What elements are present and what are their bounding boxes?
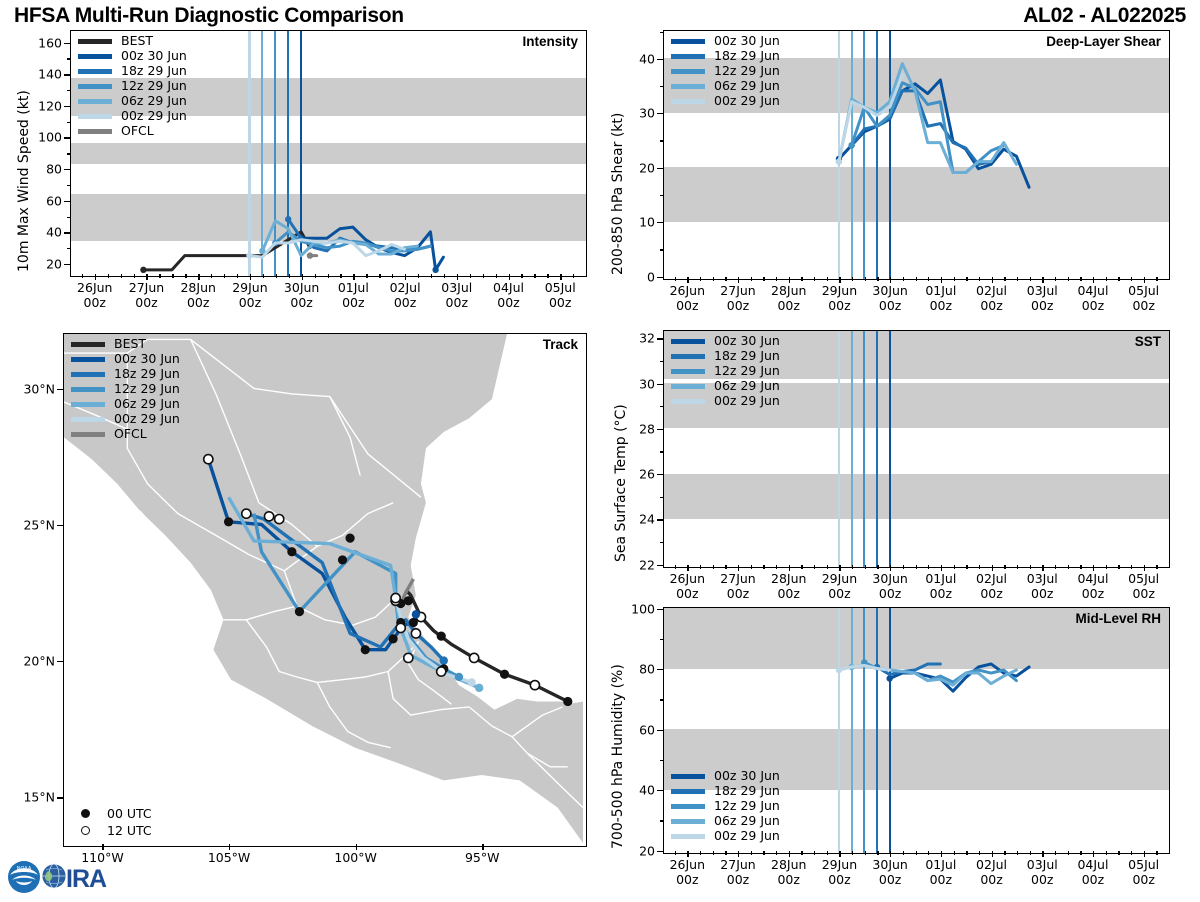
legend-swatch-18z-29-jun (671, 54, 705, 58)
x-tick-hour: 00z (1132, 872, 1154, 887)
legend-swatch-00z-29-jun (78, 114, 112, 118)
x-tick-minor (713, 851, 714, 855)
x-tick-date: 27Jun (129, 280, 164, 295)
x-tick-hour: 00z (342, 295, 364, 310)
x-tick-minor (1131, 277, 1132, 281)
x-tick-date: 26Jun (77, 280, 112, 295)
x-tick-minor (1004, 851, 1005, 855)
rh-legend: 00z 30 Jun18z 29 Jun12z 29 Jun06z 29 Jun… (671, 769, 780, 844)
track-marker-open (404, 653, 413, 662)
x-tick-minor (328, 274, 329, 278)
x-tick-label: 30Jun00z (872, 572, 907, 602)
y-tick-minor (67, 248, 71, 249)
x-tick-date: 02Jul (976, 283, 1007, 298)
x-tick-label: 28Jun00z (771, 572, 806, 602)
y-tick (657, 429, 663, 430)
x-tick-date: 28Jun (771, 283, 806, 298)
y-tick (64, 232, 70, 233)
legend-label: 12z 29 Jun (714, 65, 780, 78)
x-tick-minor (1030, 277, 1031, 281)
map-x-tick-label: 100°W (334, 851, 376, 866)
panel-intensity[interactable]: Intensity BEST00z 30 Jun18z 29 Jun12z 29… (70, 30, 585, 275)
series-start-dot (285, 216, 291, 222)
y-tick-label: 40 (617, 783, 655, 798)
y-tick (657, 168, 663, 169)
x-tick-label: 02Jul00z (976, 858, 1007, 888)
x-tick-minor (954, 277, 955, 281)
shear-legend-item: 18z 29 Jun (671, 49, 780, 64)
x-tick-minor (979, 851, 980, 855)
x-tick-date: 27Jun (720, 571, 755, 586)
x-tick-hour: 00z (676, 586, 698, 601)
rh-legend-item: 00z 29 Jun (671, 829, 780, 844)
legend-label: 18z 29 Jun (714, 350, 780, 363)
intensity-legend: BEST00z 30 Jun18z 29 Jun12z 29 Jun06z 29… (78, 34, 187, 139)
x-tick-date: 05Jul (1128, 283, 1159, 298)
shear-legend-item: 12z 29 Jun (671, 64, 780, 79)
legend-label: 00z 30 Jun (114, 353, 180, 366)
track-marker-filled (389, 634, 398, 643)
legend-label: 00z 30 Jun (121, 50, 187, 63)
x-tick-minor (134, 274, 135, 278)
legend-swatch-00z-30-jun (671, 774, 705, 778)
legend-swatch-00z-30-jun (71, 357, 105, 361)
legend-label: 06z 29 Jun (121, 95, 187, 108)
marker-dot-filled (81, 809, 90, 818)
x-tick-hour: 00z (394, 295, 416, 310)
series-start-dot (432, 267, 438, 273)
x-tick-label: 05Jul00z (1128, 858, 1159, 888)
intensity-legend-item: 00z 30 Jun (78, 49, 187, 64)
legend-swatch-best (71, 342, 105, 346)
x-tick-minor (751, 565, 752, 569)
x-tick-minor (801, 565, 802, 569)
x-tick-minor (725, 851, 726, 855)
x-tick-date: 03Jul (1027, 283, 1058, 298)
x-tick-minor (276, 274, 277, 278)
legend-swatch-18z-29-jun (671, 354, 705, 358)
x-tick-minor (483, 274, 484, 278)
y-tick-minor (660, 32, 664, 33)
x-tick-date: 03Jul (1027, 857, 1058, 872)
legend-label: 00z 29 Jun (714, 95, 780, 108)
x-tick-minor (392, 274, 393, 278)
x-tick-minor (827, 851, 828, 855)
x-tick-minor (776, 277, 777, 281)
legend-label: 06z 29 Jun (714, 815, 780, 828)
y-tick (657, 519, 663, 520)
x-tick-label: 30Jun00z (284, 281, 319, 311)
x-tick-minor (1118, 277, 1119, 281)
y-tick (657, 474, 663, 475)
x-tick-minor (1004, 565, 1005, 569)
y-tick (64, 201, 70, 202)
x-tick-minor (877, 565, 878, 569)
y-tick-label: 80 (617, 662, 655, 677)
x-tick-hour: 00z (828, 298, 850, 313)
x-tick-date: 02Jul (976, 571, 1007, 586)
x-tick-label: 26Jun00z (670, 284, 705, 314)
x-tick-minor (852, 277, 853, 281)
x-tick-date: 30Jun (284, 280, 319, 295)
x-tick-minor (521, 274, 522, 278)
track-marker-filled (295, 607, 304, 616)
series-start-dot (836, 667, 842, 673)
map-y-tick-label: 25°N (1, 518, 55, 533)
x-tick-minor (675, 277, 676, 281)
legend-label: 00z 29 Jun (121, 110, 187, 123)
x-tick-minor (1030, 851, 1031, 855)
x-tick-hour: 00z (290, 295, 312, 310)
x-tick-minor (700, 277, 701, 281)
sst-legend-item: 18z 29 Jun (671, 349, 780, 364)
x-tick-minor (814, 851, 815, 855)
x-tick-minor (444, 274, 445, 278)
x-tick-date: 29Jun (232, 280, 267, 295)
y-tick-label: 80 (24, 162, 62, 177)
x-tick-hour: 00z (980, 586, 1002, 601)
x-tick-minor (211, 274, 212, 278)
legend-label: 18z 29 Jun (714, 785, 780, 798)
legend-label: 00z 30 Jun (714, 335, 780, 348)
y-tick-minor (660, 699, 664, 700)
y-tick (657, 338, 663, 339)
x-tick-label: 01Jul00z (925, 284, 956, 314)
y-tick (657, 59, 663, 60)
storm-id-label: AL02 - AL022025 (1023, 4, 1186, 28)
track-marker-open (204, 455, 213, 464)
x-tick-minor (979, 565, 980, 569)
track-marker-filled (500, 670, 509, 679)
y-tick (64, 169, 70, 170)
marker-legend-item: 00 UTC (71, 805, 152, 822)
track-marker-filled (563, 697, 572, 706)
y-tick-label: 10 (617, 215, 655, 230)
x-tick-minor (928, 277, 929, 281)
x-tick-hour: 00z (828, 586, 850, 601)
y-tick (657, 609, 663, 610)
x-tick-date: 29Jun (822, 571, 857, 586)
x-tick-hour: 00z (1031, 872, 1053, 887)
intensity-legend-item: 12z 29 Jun (78, 79, 187, 94)
shear-title: Deep-Layer Shear (1046, 34, 1161, 49)
panel-sst[interactable]: SST 00z 30 Jun18z 29 Jun12z 29 Jun06z 29… (663, 330, 1168, 566)
x-tick-label: 01Jul00z (338, 281, 369, 311)
y-tick-label: 40 (617, 51, 655, 66)
x-tick-minor (1118, 851, 1119, 855)
x-tick-minor (966, 851, 967, 855)
x-tick-label: 05Jul00z (545, 281, 576, 311)
legend-label: 00z 30 Jun (714, 770, 780, 783)
map-y-tick (57, 797, 63, 798)
x-tick-minor (1156, 851, 1157, 855)
x-tick-minor (418, 274, 419, 278)
page-title: HFSA Multi-Run Diagnostic Comparison (14, 4, 404, 28)
track-marker-open (396, 623, 405, 632)
x-tick-label: 29Jun00z (232, 281, 267, 311)
x-tick-hour: 00z (497, 295, 519, 310)
x-tick-minor (827, 277, 828, 281)
x-tick-minor (979, 277, 980, 281)
sst-title: SST (1135, 334, 1161, 349)
y-tick-label: 20 (617, 160, 655, 175)
x-tick-minor (877, 277, 878, 281)
x-tick-date: 03Jul (1027, 571, 1058, 586)
track-legend-item: 18z 29 Jun (71, 367, 180, 382)
x-tick-minor (237, 274, 238, 278)
sst-legend-item: 12z 29 Jun (671, 364, 780, 379)
x-tick-minor (966, 277, 967, 281)
x-tick-minor (159, 274, 160, 278)
legend-swatch-06z-29-jun (671, 819, 705, 823)
series-start-dot (848, 142, 854, 148)
x-tick-hour: 00z (1082, 586, 1104, 601)
y-tick-minor (660, 140, 664, 141)
y-tick-label: 100 (24, 130, 62, 145)
x-tick-minor (121, 274, 122, 278)
x-tick-date: 04Jul (493, 280, 524, 295)
legend-label: BEST (121, 35, 153, 48)
x-tick-label: 02Jul00z (390, 281, 421, 311)
y-tick-label: 32 (617, 331, 655, 346)
legend-swatch-00z-30-jun (671, 39, 705, 43)
track-legend-item: 06z 29 Jun (71, 397, 180, 412)
legend-swatch-18z-29-jun (671, 789, 705, 793)
y-tick-minor (660, 820, 664, 821)
y-tick-label: 60 (617, 722, 655, 737)
x-tick-minor (801, 851, 802, 855)
y-tick-label: 160 (24, 35, 62, 50)
legend-swatch-12z-29-jun (71, 387, 105, 391)
x-tick-hour: 00z (879, 586, 901, 601)
series-start-dot (246, 252, 252, 258)
legend-label: OFCL (114, 428, 147, 441)
x-tick-hour: 00z (676, 872, 698, 887)
x-tick-label: 26Jun00z (670, 858, 705, 888)
x-tick-hour: 00z (777, 586, 799, 601)
x-tick-label: 02Jul00z (976, 572, 1007, 602)
x-tick-minor (1131, 851, 1132, 855)
y-tick (657, 790, 663, 791)
y-tick-minor (67, 90, 71, 91)
x-tick-date: 04Jul (1077, 283, 1108, 298)
x-tick-minor (928, 851, 929, 855)
x-tick-minor (763, 565, 764, 569)
x-tick-minor (675, 565, 676, 569)
y-tick-minor (660, 542, 664, 543)
x-tick-minor (776, 851, 777, 855)
rh-legend-item: 06z 29 Jun (671, 814, 780, 829)
y-tick-minor (660, 639, 664, 640)
map-y-tick (57, 389, 63, 390)
x-tick-label: 03Jul00z (1027, 284, 1058, 314)
x-tick-hour: 00z (1031, 298, 1053, 313)
legend-label: OFCL (121, 125, 154, 138)
map-y-tick-label: 15°N (1, 790, 55, 805)
y-tick-label: 24 (617, 512, 655, 527)
intensity-legend-item: 06z 29 Jun (78, 94, 187, 109)
legend-label: 18z 29 Jun (714, 50, 780, 63)
y-tick-label: 28 (617, 421, 655, 436)
panel-shear[interactable]: Deep-Layer Shear 00z 30 Jun18z 29 Jun12z… (663, 30, 1168, 278)
x-tick-date: 27Jun (720, 283, 755, 298)
x-tick-date: 29Jun (822, 283, 857, 298)
track-endpoint (412, 610, 420, 618)
x-tick-hour: 00z (1132, 586, 1154, 601)
x-tick-label: 27Jun00z (720, 572, 755, 602)
x-tick-date: 28Jun (771, 571, 806, 586)
x-tick-date: 04Jul (1077, 857, 1108, 872)
panel-track[interactable]: Track 00 UTC12 UTC BEST00z 30 Jun18z 29 … (63, 333, 585, 845)
rh-legend-item: 00z 30 Jun (671, 769, 780, 784)
track-legend-item: BEST (71, 337, 180, 352)
y-tick (64, 43, 70, 44)
x-tick-date: 27Jun (720, 857, 755, 872)
y-tick (657, 730, 663, 731)
y-tick-label: 22 (617, 557, 655, 572)
track-marker-filled (287, 547, 296, 556)
legend-swatch-06z-29-jun (78, 99, 112, 103)
x-tick-minor (1080, 851, 1081, 855)
x-tick-minor (916, 851, 917, 855)
y-tick-minor (660, 361, 664, 362)
series-line-06z-29-jun (839, 64, 1016, 173)
x-tick-minor (1156, 565, 1157, 569)
y-tick (657, 277, 663, 278)
x-tick-minor (928, 565, 929, 569)
legend-swatch-best (78, 39, 112, 43)
track-marker-filled (338, 555, 347, 564)
track-legend: BEST00z 30 Jun18z 29 Jun12z 29 Jun06z 29… (71, 337, 180, 442)
x-tick-hour: 00z (879, 872, 901, 887)
x-tick-date: 26Jun (670, 283, 705, 298)
y-tick-label: 20 (24, 257, 62, 272)
legend-label: 06z 29 Jun (714, 80, 780, 93)
track-marker-open (437, 667, 446, 676)
legend-swatch-18z-29-jun (78, 69, 112, 73)
x-tick-label: 03Jul00z (1027, 858, 1058, 888)
x-tick-label: 03Jul00z (1027, 572, 1058, 602)
intensity-title: Intensity (522, 34, 578, 49)
x-tick-date: 01Jul (925, 283, 956, 298)
y-tick (64, 264, 70, 265)
legend-swatch-00z-29-jun (671, 834, 705, 838)
x-tick-hour: 00z (727, 298, 749, 313)
y-tick-minor (67, 58, 71, 59)
rh-legend-item: 12z 29 Jun (671, 799, 780, 814)
x-tick-minor (725, 277, 726, 281)
shear-legend: 00z 30 Jun18z 29 Jun12z 29 Jun06z 29 Jun… (671, 34, 780, 109)
y-tick-label: 26 (617, 467, 655, 482)
series-start-dot (307, 252, 313, 258)
x-tick-minor (763, 851, 764, 855)
shear-legend-item: 00z 30 Jun (671, 34, 780, 49)
x-tick-minor (751, 851, 752, 855)
x-tick-label: 04Jul00z (1077, 284, 1108, 314)
legend-swatch-06z-29-jun (71, 402, 105, 406)
map-x-tick-label: 105°W (208, 851, 250, 866)
x-tick-label: 28Jun00z (771, 858, 806, 888)
rh-legend-item: 18z 29 Jun (671, 784, 780, 799)
x-tick-hour: 00z (1132, 298, 1154, 313)
x-tick-label: 04Jul00z (1077, 572, 1108, 602)
series-start-dot (140, 267, 146, 273)
x-tick-minor (916, 277, 917, 281)
x-tick-label: 29Jun00z (822, 858, 857, 888)
x-tick-minor (865, 851, 866, 855)
x-tick-hour: 00z (1082, 298, 1104, 313)
x-tick-label: 04Jul00z (493, 281, 524, 311)
legend-label: 12z 29 Jun (714, 365, 780, 378)
x-tick-label: 01Jul00z (925, 858, 956, 888)
track-endpoint (440, 656, 448, 664)
y-tick-label: 40 (24, 225, 62, 240)
x-tick-minor (1055, 277, 1056, 281)
legend-swatch-00z-30-jun (78, 54, 112, 58)
series-line-00z-29-jun (839, 665, 890, 670)
x-tick-minor (700, 565, 701, 569)
x-tick-minor (903, 277, 904, 281)
legend-label: 00z 29 Jun (114, 413, 180, 426)
legend-label: 18z 29 Jun (114, 368, 180, 381)
x-tick-minor (224, 274, 225, 278)
x-tick-minor (865, 277, 866, 281)
x-tick-hour: 00z (84, 295, 106, 310)
x-tick-minor (1017, 565, 1018, 569)
legend-swatch-06z-29-jun (671, 384, 705, 388)
track-title: Track (543, 337, 578, 352)
track-endpoint (475, 684, 483, 692)
x-tick-hour: 00z (549, 295, 571, 310)
x-tick-minor (340, 274, 341, 278)
x-tick-label: 03Jul00z (441, 281, 472, 311)
x-tick-minor (675, 851, 676, 855)
y-tick-minor (67, 153, 71, 154)
legend-label: 12z 29 Jun (121, 80, 187, 93)
x-tick-minor (916, 565, 917, 569)
x-tick-minor (877, 851, 878, 855)
x-tick-minor (966, 565, 967, 569)
x-tick-minor (1156, 277, 1157, 281)
x-tick-minor (496, 274, 497, 278)
x-tick-hour: 00z (777, 872, 799, 887)
x-tick-date: 26Jun (670, 857, 705, 872)
x-tick-minor (1017, 277, 1018, 281)
x-tick-hour: 00z (930, 872, 952, 887)
x-tick-label: 26Jun00z (670, 572, 705, 602)
x-tick-minor (1131, 565, 1132, 569)
x-tick-label: 29Jun00z (822, 284, 857, 314)
y-tick-label: 30 (617, 376, 655, 391)
x-tick-date: 02Jul (976, 857, 1007, 872)
panel-rh[interactable]: Mid-Level RH 00z 30 Jun18z 29 Jun12z 29 … (663, 607, 1168, 852)
map-y-tick-label: 20°N (1, 654, 55, 669)
x-tick-minor (547, 274, 548, 278)
x-tick-minor (852, 565, 853, 569)
track-marker-open (470, 653, 479, 662)
intensity-legend-item: BEST (78, 34, 187, 49)
x-tick-minor (1080, 565, 1081, 569)
y-tick (64, 106, 70, 107)
map-y-tick (57, 525, 63, 526)
x-tick-minor (1055, 851, 1056, 855)
y-tick-label: 100 (617, 601, 655, 616)
track-marker-filled (361, 645, 370, 654)
x-tick-hour: 00z (135, 295, 157, 310)
x-tick-minor (1068, 851, 1069, 855)
legend-swatch-12z-29-jun (671, 69, 705, 73)
series-line-best (143, 232, 310, 270)
